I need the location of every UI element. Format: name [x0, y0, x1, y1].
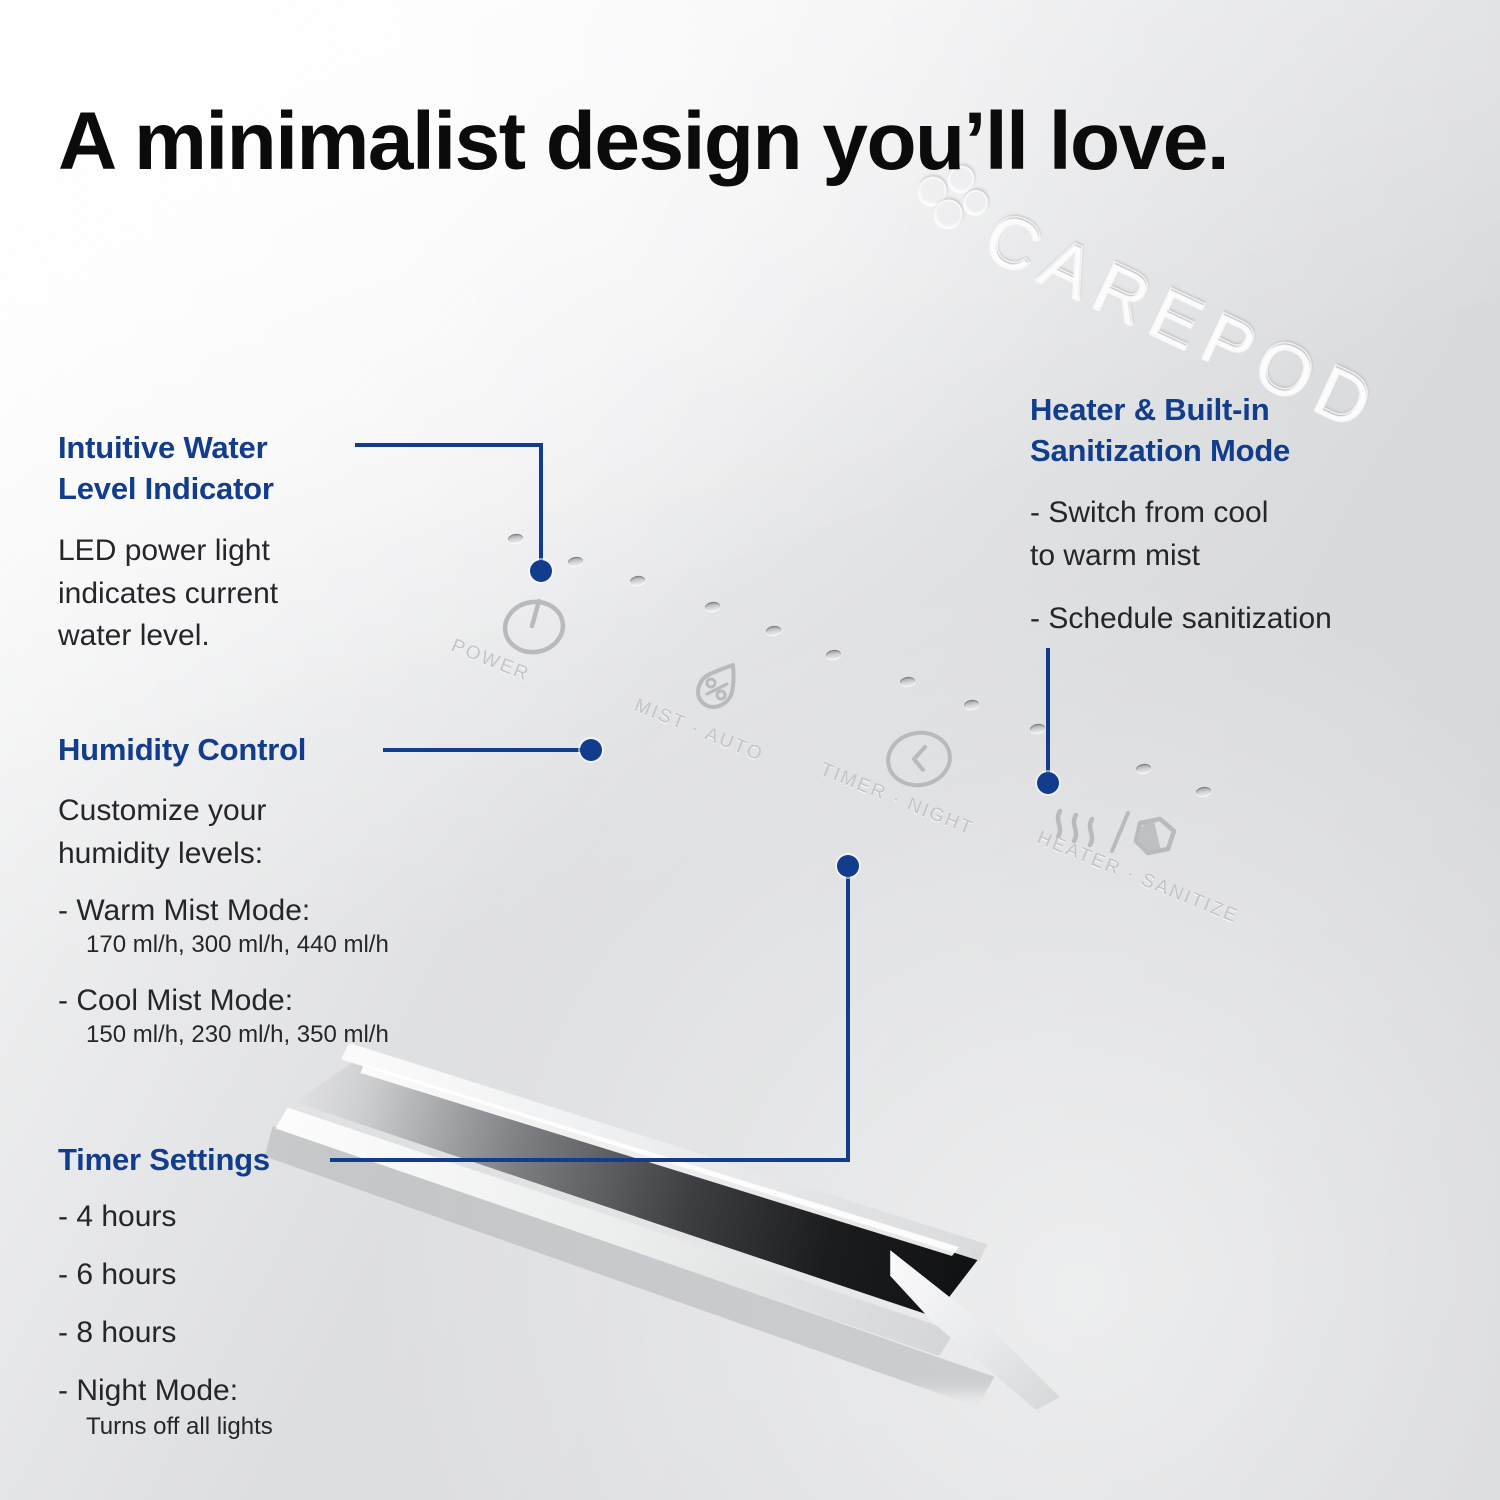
callout-body-water-level: LED power light indicates current water …	[58, 530, 398, 658]
infographic-canvas: CAREPOD POWER	[0, 0, 1500, 1500]
callout-body-humidity: Customize your humidity levels:	[58, 790, 398, 875]
timer-item-0: - 4 hours	[58, 1196, 176, 1239]
heater-item-1: - Schedule sanitization	[1030, 598, 1460, 641]
timer-item-3: - Night Mode:	[58, 1370, 238, 1413]
humidity-item-1-detail: 150 ml/h, 230 ml/h, 350 ml/h	[86, 1018, 389, 1052]
leader-dot-timer	[837, 855, 859, 877]
leader-line-heater-v	[1046, 648, 1050, 784]
page-title: A minimalist design you’ll love.	[58, 96, 1228, 189]
leader-line-water-level-h	[355, 443, 543, 447]
timer-item-1: - 6 hours	[58, 1254, 176, 1297]
leader-line-timer-v	[846, 872, 850, 1160]
callout-title-timer: Timer Settings	[58, 1140, 270, 1181]
humidity-item-0-label: - Warm Mist Mode:	[58, 890, 310, 933]
leader-line-water-level-v	[539, 443, 543, 568]
timer-item-3-detail: Turns off all lights	[86, 1410, 273, 1444]
timer-item-2: - 8 hours	[58, 1312, 176, 1355]
callout-title-heater: Heater & Built-in Sanitization Mode	[1030, 390, 1450, 472]
leader-dot-heater	[1037, 772, 1059, 794]
leader-line-timer-h	[330, 1158, 850, 1162]
mist-outlet-slot	[250, 1000, 1050, 1420]
humidity-item-0-detail: 170 ml/h, 300 ml/h, 440 ml/h	[86, 928, 389, 962]
heater-item-0: - Switch from cool to warm mist	[1030, 492, 1450, 577]
leader-dot-humidity	[580, 739, 602, 761]
leader-line-humidity-h	[383, 748, 595, 752]
callout-title-humidity: Humidity Control	[58, 730, 398, 771]
leader-dot-water-level	[530, 560, 552, 582]
humidity-item-1-label: - Cool Mist Mode:	[58, 980, 293, 1023]
callout-title-water-level: Intuitive Water Level Indicator	[58, 428, 388, 510]
